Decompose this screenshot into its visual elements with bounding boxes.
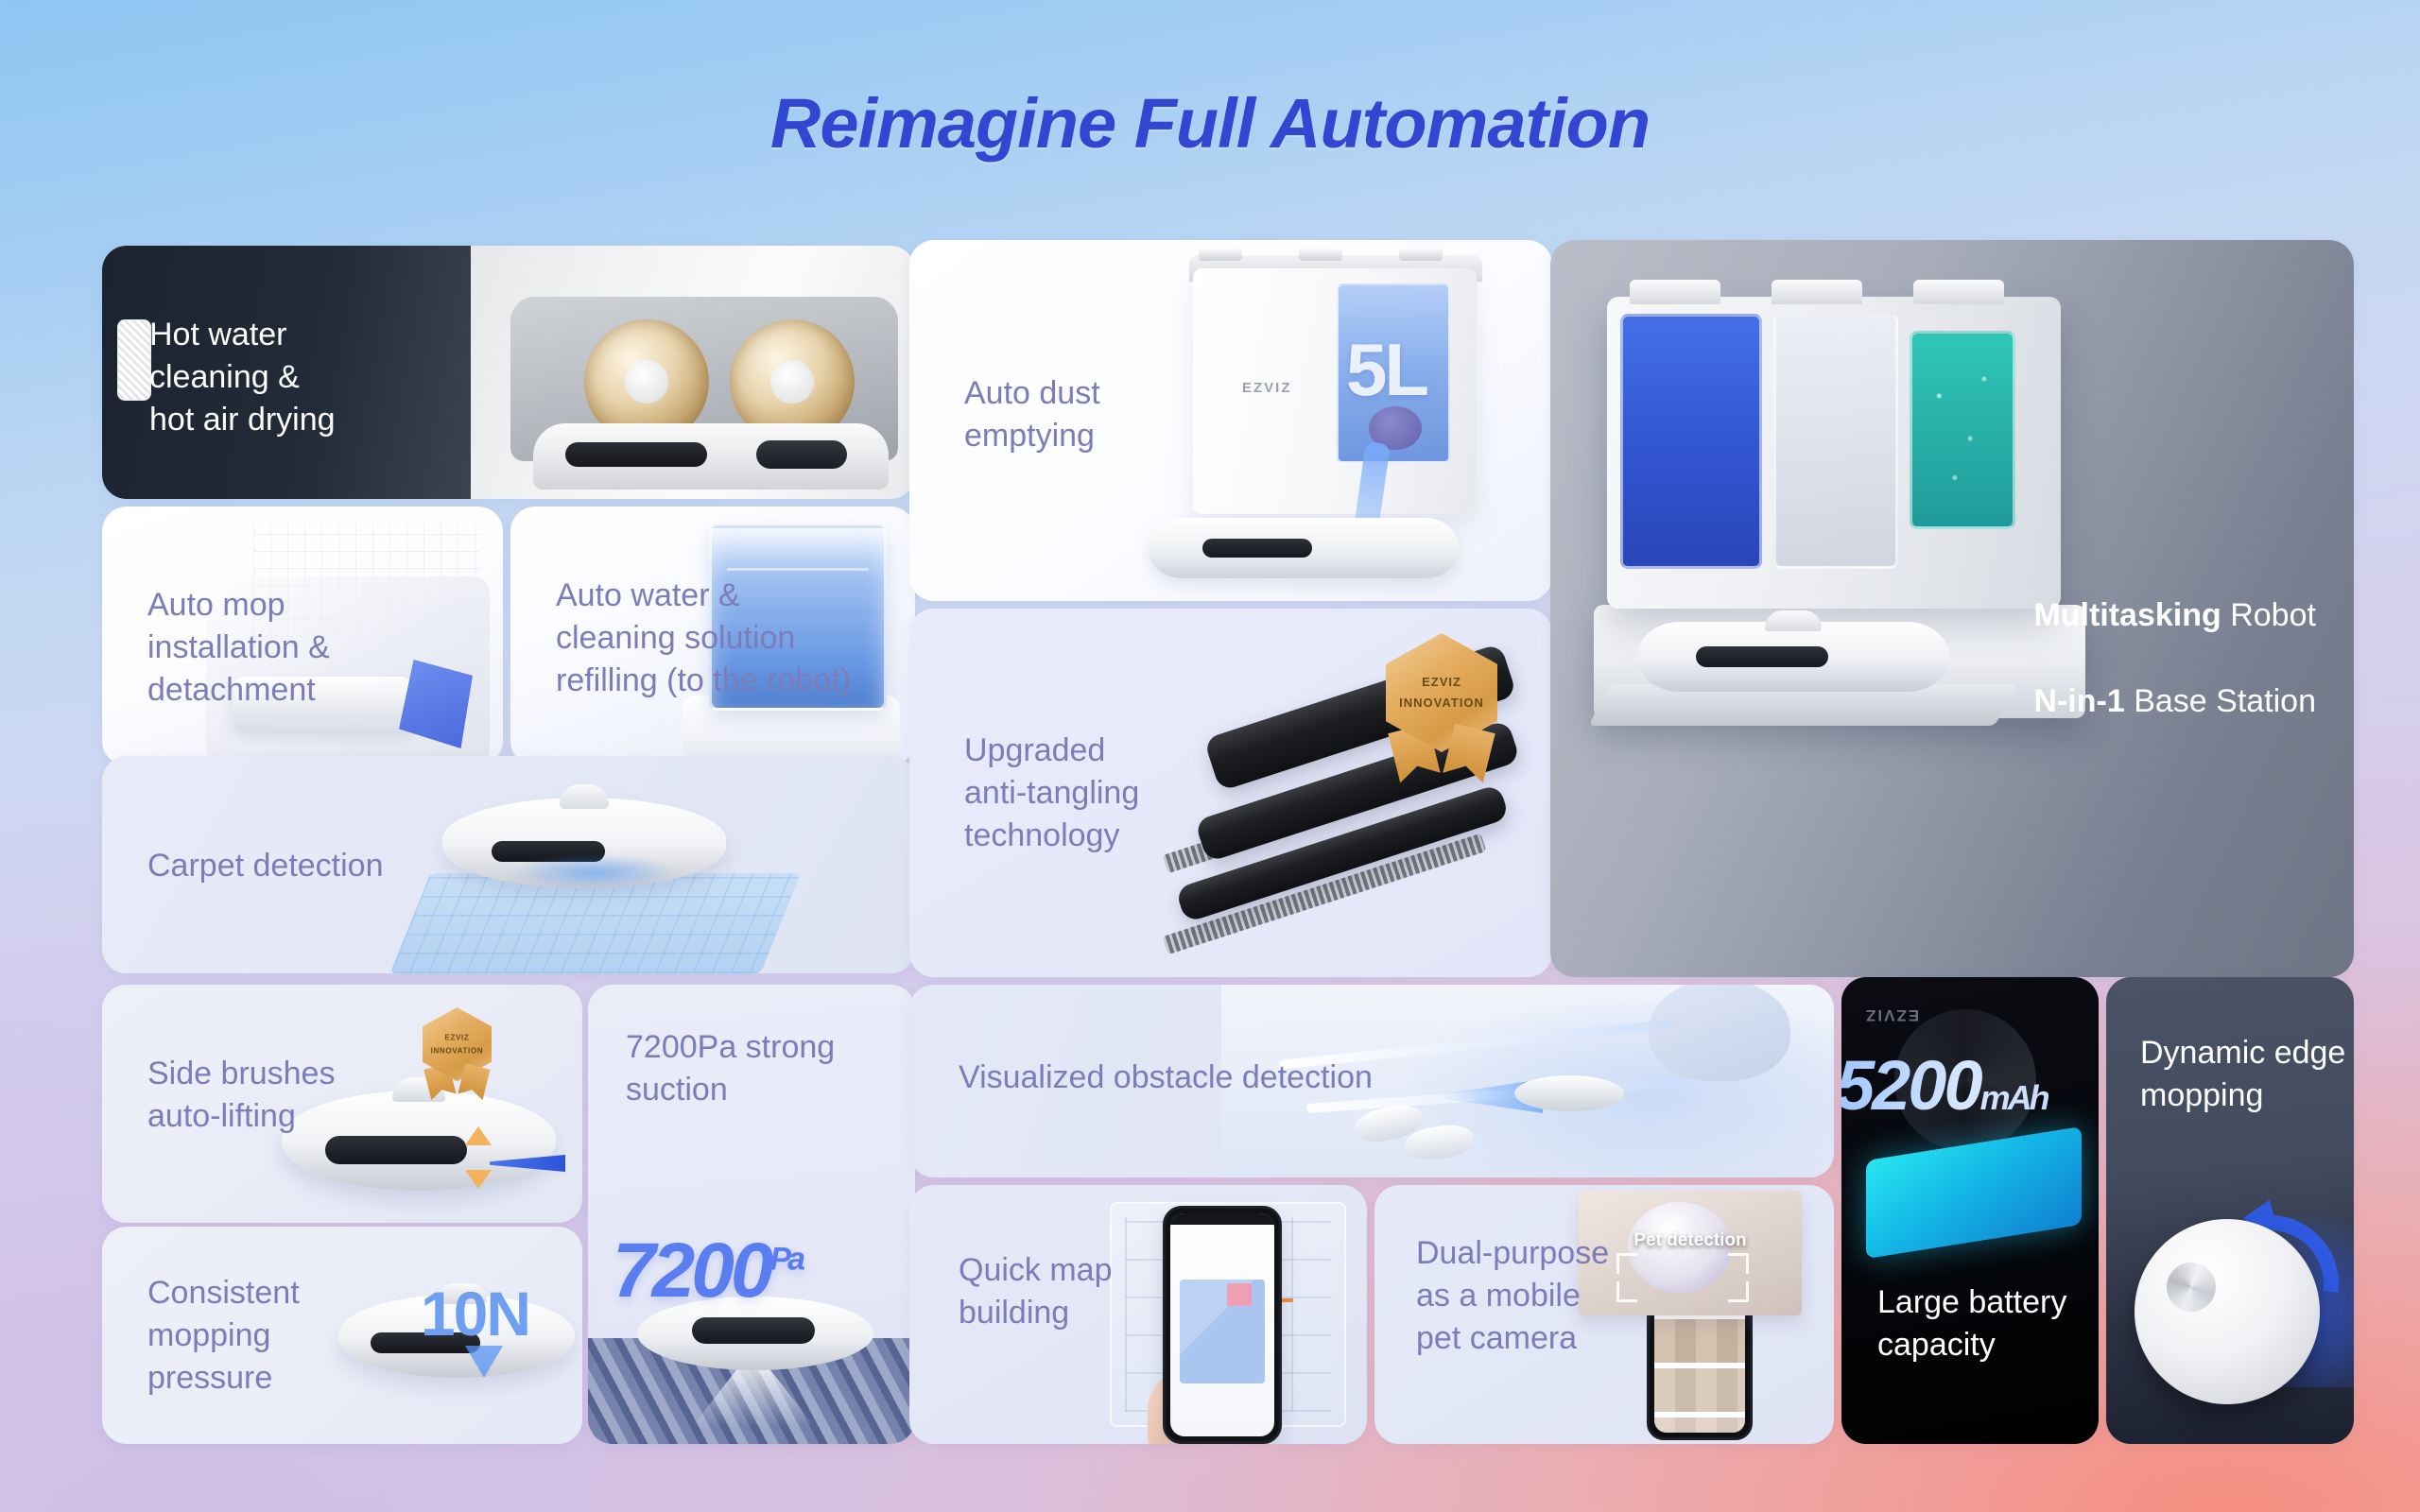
ezviz-logo: EZVIZ	[1864, 1005, 1919, 1024]
station-line-2-rest: Base Station	[2125, 683, 2316, 719]
battery-value-graphic: 5200mAh	[1841, 1045, 2099, 1125]
innovation-badge: EZVIZ INNOVATION	[1386, 633, 1497, 752]
dock-shell-art	[471, 246, 915, 499]
carpet-pile-art	[588, 1338, 915, 1444]
battery-value: 5200	[1841, 1046, 1980, 1125]
badge-line-2: INNOVATION	[431, 1044, 484, 1057]
pet-thumbnail-strip	[1654, 1417, 1745, 1433]
card-label-obstacle: Visualized obstacle detection	[959, 1057, 1373, 1099]
robot-vacuum-art	[637, 1297, 873, 1370]
station-line-1-bold: Multitasking	[2033, 597, 2221, 633]
phone-status-bar	[1170, 1213, 1274, 1225]
green-detergent-tank-art	[1910, 331, 2015, 529]
robot-vacuum-art	[1148, 518, 1460, 578]
card-label-quick-map: Quick map building	[959, 1249, 1113, 1334]
blue-water-tank-art	[1620, 314, 1762, 569]
tank-base-art	[683, 696, 900, 765]
suction-rays-art	[692, 1361, 815, 1427]
battery-cell-art	[1866, 1126, 2082, 1259]
arrow-down-icon	[465, 1170, 492, 1189]
brush-roller-art	[1175, 783, 1510, 922]
dust-blob-art	[1369, 406, 1422, 450]
suction-unit: Pa	[769, 1242, 802, 1278]
robot-vacuum-art	[1514, 1075, 1624, 1111]
arrow-down-icon	[465, 1346, 503, 1378]
dog-art	[1628, 1202, 1732, 1293]
robot-vacuum-art	[442, 798, 726, 888]
dock-cavity-art	[510, 297, 898, 461]
base-station-body-art	[1193, 268, 1477, 514]
station-body-art	[1607, 297, 2061, 609]
station-line-1-rest: Robot	[2221, 597, 2316, 633]
tank-capacity-label: 5L	[1346, 327, 1426, 413]
station-lids-art	[1630, 280, 2008, 304]
phone-screen	[1654, 1208, 1745, 1433]
detection-brackets-icon	[1616, 1253, 1749, 1302]
station-line-2-bold: N-in-1	[2033, 683, 2124, 719]
side-brush-art	[490, 1155, 565, 1172]
badge-line-1: EZVIZ	[444, 1031, 469, 1044]
beanbag-art	[1649, 985, 1790, 1081]
card-multitasking-base-station[interactable]: Multitasking Robot N-in-1 Base Station	[1550, 240, 2354, 977]
card-obstacle-detection[interactable]: Visualized obstacle detection	[909, 985, 1834, 1177]
card-anti-tangling-technology[interactable]: EZVIZ INNOVATION Upgraded anti-tangling …	[909, 609, 1552, 977]
card-label-carpet: Carpet detection	[147, 845, 384, 887]
card-large-battery-capacity[interactable]: EZVIZ 5200mAh Large battery capacity	[1841, 977, 2099, 1444]
rotation-arrow-icon	[2173, 1188, 2354, 1382]
card-label-pet-camera: Dual-purpose as a mobile pet camera	[1416, 1232, 1609, 1361]
card-quick-map-building[interactable]: Quick map building	[909, 1185, 1367, 1444]
card-auto-water-refilling[interactable]: Auto water & cleaning solution refilling…	[510, 507, 915, 765]
badge-line-2: INNOVATION	[1399, 693, 1484, 713]
mop-pad-right	[730, 319, 855, 444]
robot-vacuum-art	[1637, 622, 1949, 692]
pet-thumbnail-strip	[1654, 1319, 1745, 1363]
card-label-dust: Auto dust emptying	[964, 372, 1100, 457]
infographic-canvas: Reimagine Full Automation Hot water clea…	[0, 0, 2420, 1512]
card-label-hot-water: Hot water cleaning & hot air drying	[149, 314, 336, 442]
suction-value-graphic: 7200Pa	[613, 1227, 802, 1315]
card-dynamic-edge-mopping[interactable]: Dynamic edge mopping	[2106, 977, 2354, 1444]
station-ramp-art	[1588, 684, 2016, 726]
smartphone-art	[1163, 1206, 1282, 1444]
card-side-brushes-auto-lifting[interactable]: EZVIZ INNOVATION Side brushes auto-lifti…	[102, 985, 582, 1223]
card-auto-mop-installation[interactable]: Auto mop installation & detachment	[102, 507, 503, 765]
robot-vacuum-art	[533, 423, 889, 490]
arrow-up-icon	[465, 1126, 492, 1145]
dust-bag-tank-art	[1337, 283, 1450, 463]
battery-unit: mAh	[1980, 1078, 2048, 1117]
station-line-2: N-in-1 Base Station	[2033, 680, 2316, 723]
map-rooms-art	[1180, 1280, 1265, 1383]
hand-art	[1148, 1363, 1270, 1444]
robot-vacuum-art	[2135, 1219, 2320, 1404]
station-base-art	[1594, 605, 2085, 718]
edge-glow-art	[2212, 1208, 2354, 1387]
innovation-badge-hexagon: EZVIZ INNOVATION	[1386, 633, 1497, 752]
smartphone-art	[1647, 1200, 1753, 1440]
badge-line-1: EZVIZ	[1422, 672, 1461, 693]
innovation-badge: EZVIZ INNOVATION	[423, 1007, 492, 1081]
slipper-art	[1403, 1122, 1477, 1163]
station-line-1: Multitasking Robot	[2033, 594, 2316, 637]
floorplan-art	[1110, 1202, 1346, 1427]
comb-blade-art	[1163, 833, 1487, 954]
card-label-battery: Large battery capacity	[1877, 1281, 2066, 1366]
station-lids-art	[1189, 255, 1482, 282]
suction-value: 7200	[613, 1228, 769, 1314]
card-label-suction: 7200Pa strong suction	[626, 1026, 835, 1111]
card-mopping-pressure[interactable]: 10N Consistent mopping pressure	[102, 1227, 582, 1444]
page-title: Reimagine Full Automation	[0, 83, 2420, 163]
carpet-mat-art	[390, 873, 802, 973]
slipper-art	[1351, 1101, 1426, 1147]
card-hot-water-cleaning[interactable]: Hot water cleaning & hot air drying	[102, 246, 915, 499]
suction-tube-art	[1349, 441, 1391, 564]
ezviz-logo: EZVIZ	[1242, 380, 1292, 396]
scan-glow-art	[509, 854, 679, 890]
pet-detection-overlay-label: Pet detection	[1579, 1230, 1802, 1251]
vent-grille-icon	[117, 319, 151, 401]
pet-detection-preview: Pet detection	[1579, 1191, 1802, 1315]
cleaning-route-art	[1168, 1230, 1293, 1302]
card-auto-dust-emptying[interactable]: EZVIZ 5L Auto dust emptying	[909, 240, 1552, 601]
robot-vacuum-art	[338, 1295, 575, 1378]
detection-beam-art	[1439, 1079, 1543, 1113]
pet-thumbnail-strip	[1654, 1368, 1745, 1412]
card-label-anti-tangling: Upgraded anti-tangling technology	[964, 730, 1139, 858]
card-label-edge-mopping: Dynamic edge mopping	[2140, 1032, 2345, 1117]
clear-tank-art	[1773, 314, 1898, 569]
card-label-side-brushes: Side brushes auto-lifting	[147, 1053, 335, 1138]
pressure-value-graphic: 10N	[421, 1278, 529, 1349]
mop-pad-left	[584, 319, 709, 444]
innovation-badge-hexagon: EZVIZ INNOVATION	[423, 1007, 492, 1081]
card-label-auto-mop: Auto mop installation & detachment	[147, 584, 330, 713]
card-label-pressure: Consistent mopping pressure	[147, 1272, 300, 1400]
card-strong-suction[interactable]: 7200Pa 7200Pa strong suction	[588, 985, 915, 1444]
fan-ring-art	[1894, 1009, 2036, 1151]
phone-screen	[1170, 1213, 1274, 1436]
card-label-station: Multitasking Robot N-in-1 Base Station	[2033, 552, 2316, 765]
card-carpet-detection[interactable]: Carpet detection	[102, 756, 915, 973]
card-pet-camera[interactable]: Pet detection Dual-purpose as a mobile p…	[1374, 1185, 1834, 1444]
card-label-auto-water: Auto water & cleaning solution refilling…	[556, 575, 851, 703]
